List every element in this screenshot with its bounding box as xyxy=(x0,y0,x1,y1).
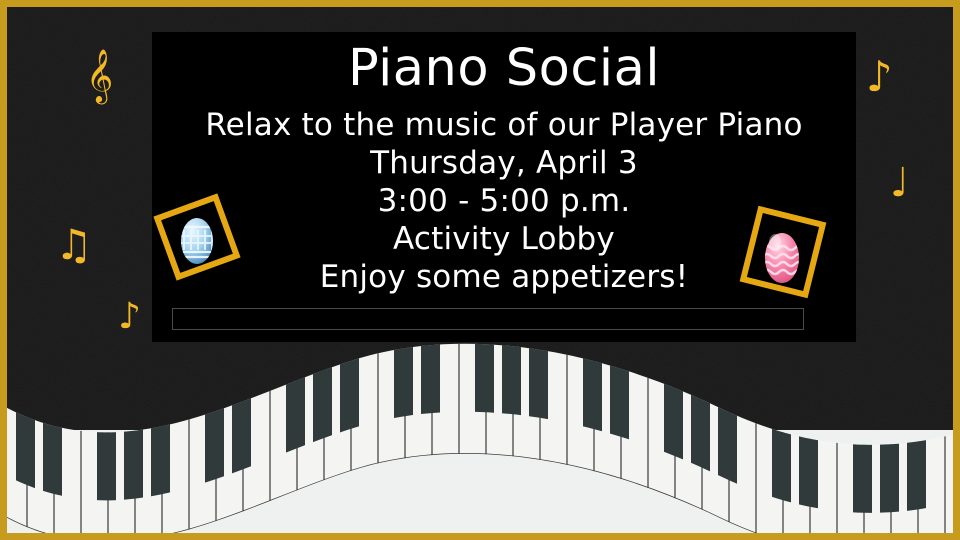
poster-canvas: 𝄞 ♫ ♪ ♪ ♩ xyxy=(0,0,960,540)
pink-easter-egg-icon xyxy=(757,222,807,288)
eighth-note-right-icon: ♪ xyxy=(866,52,893,101)
eighth-note-left-icon: ♪ xyxy=(118,296,141,337)
beamed-notes-icon: ♫ xyxy=(55,220,93,269)
piano-keyboard xyxy=(0,330,960,540)
detail-line-1: Relax to the music of our Player Piano xyxy=(152,106,856,144)
blue-egg-decoration xyxy=(150,190,242,290)
page-title: Piano Social xyxy=(152,38,856,100)
treble-clef-icon: 𝄞 xyxy=(86,48,113,104)
pink-egg-decoration xyxy=(735,200,831,310)
blue-easter-egg-icon xyxy=(174,208,220,268)
empty-text-box[interactable] xyxy=(172,308,804,330)
detail-line-2: Thursday, April 3 xyxy=(152,144,856,182)
quarter-note-right-icon: ♩ xyxy=(890,160,909,206)
